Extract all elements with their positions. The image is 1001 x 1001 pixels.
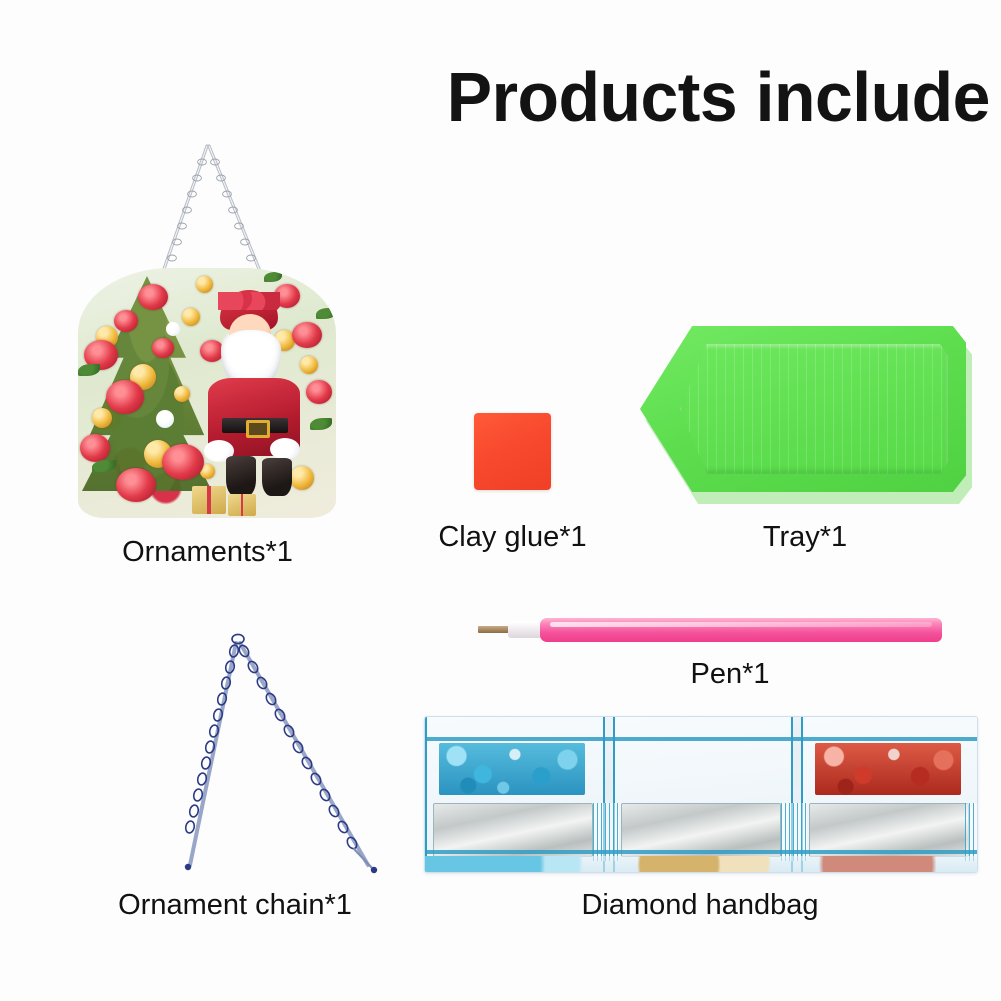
tray-caption: Tray*1 — [700, 520, 910, 554]
ornaments-caption: Ornaments*1 — [70, 535, 345, 569]
ornament-chain-caption: Ornament chain*1 — [85, 888, 385, 922]
santa-ornament-artwork — [78, 268, 336, 518]
ornament-product — [70, 140, 345, 522]
product-include-graphic: Products include — [0, 0, 1001, 1001]
pen-caption: Pen*1 — [630, 657, 830, 691]
clay-glue-caption: Clay glue*1 — [410, 520, 615, 554]
santa-figure-icon — [196, 290, 318, 495]
pen-icon — [478, 617, 942, 643]
tray-icon — [640, 326, 972, 504]
clay-glue-icon — [474, 413, 551, 490]
ornament-chain-icon — [150, 625, 400, 880]
page-title: Products include — [447, 58, 990, 136]
diamond-handbag-caption: Diamond handbag — [490, 888, 910, 922]
diamond-handbag-icon — [424, 716, 978, 873]
